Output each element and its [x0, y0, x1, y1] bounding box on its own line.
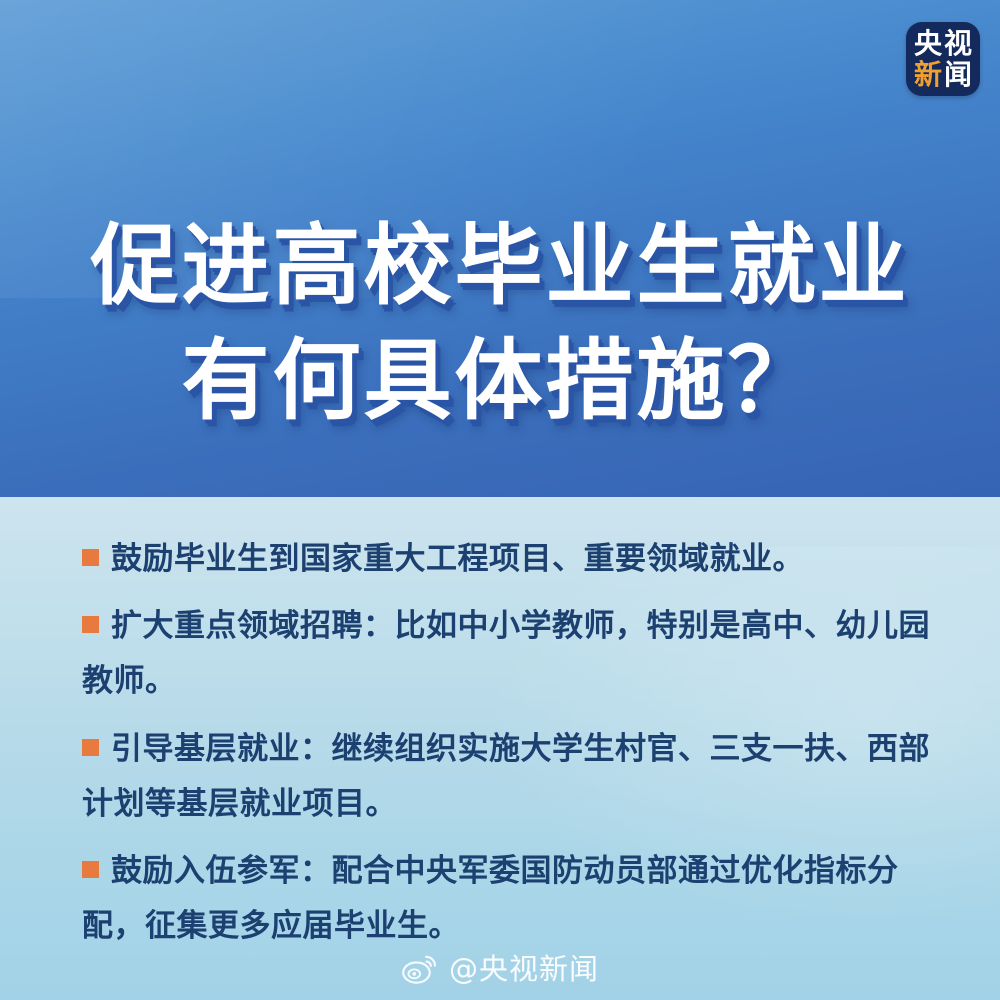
square-bullet-icon: [82, 616, 99, 633]
bullet-item-2-text: 扩大重点领域招聘：比如中小学教师，特别是高中、幼儿园教师。: [82, 608, 930, 699]
bullet-item-3: 引导基层就业：继续组织实施大学生村官、三支一扶、西部计划等基层就业项目。: [82, 731, 930, 822]
list-item: 鼓励毕业生到国家重大工程项目、重要领域就业。: [82, 532, 942, 587]
infographic-poster: 央 视 新 闻 促进高校毕业生就业 有何具体措施？ 鼓励毕业生到国家重大工程项目…: [0, 0, 1000, 1000]
logo-char-shi: 视: [943, 30, 973, 58]
list-item: 引导基层就业：继续组织实施大学生村官、三支一扶、西部计划等基层就业项目。: [82, 722, 942, 832]
logo-char-wen: 闻: [943, 61, 973, 89]
hero-banner: 央 视 新 闻 促进高校毕业生就业 有何具体措施？: [0, 0, 1000, 497]
square-bullet-icon: [82, 549, 99, 566]
bullet-item-4-text: 鼓励入伍参军：配合中央军委国防动员部通过优化指标分配，征集更多应届毕业生。: [82, 853, 899, 944]
square-bullet-icon: [82, 739, 99, 756]
list-item: 鼓励入伍参军：配合中央军委国防动员部通过优化指标分配，征集更多应届毕业生。: [82, 844, 942, 954]
weibo-handle: @央视新闻: [449, 955, 599, 984]
bullet-item-2: 扩大重点领域招聘：比如中小学教师，特别是高中、幼儿园教师。: [82, 608, 930, 699]
measures-panel: 鼓励毕业生到国家重大工程项目、重要领域就业。 扩大重点领域招聘：比如中小学教师，…: [0, 497, 1000, 1000]
logo-line-bottom: 新 闻: [913, 61, 973, 89]
bullet-item-1-text: 鼓励毕业生到国家重大工程项目、重要领域就业。: [111, 541, 804, 577]
logo-line-top: 央 视: [913, 30, 973, 58]
logo-char-xin: 新: [913, 61, 943, 89]
measures-list: 鼓励毕业生到国家重大工程项目、重要领域就业。 扩大重点领域招聘：比如中小学教师，…: [82, 532, 942, 966]
cctv-news-logo: 央 视 新 闻: [906, 22, 980, 96]
list-item: 扩大重点领域招聘：比如中小学教师，特别是高中、幼儿园教师。: [82, 599, 942, 709]
title-line-2: 有何具体措施？: [0, 327, 1000, 434]
footer-attribution: @央视新闻: [0, 954, 1000, 984]
page-title: 促进高校毕业生就业 有何具体措施？: [0, 212, 1000, 435]
bullet-item-1: 鼓励毕业生到国家重大工程项目、重要领域就业。: [82, 541, 804, 577]
logo-char-yang: 央: [913, 30, 943, 58]
square-bullet-icon: [82, 861, 99, 878]
title-line-1: 促进高校毕业生就业: [0, 212, 1000, 319]
bullet-item-3-text: 引导基层就业：继续组织实施大学生村官、三支一扶、西部计划等基层就业项目。: [82, 731, 930, 822]
weibo-icon: [401, 954, 439, 984]
bullet-item-4: 鼓励入伍参军：配合中央军委国防动员部通过优化指标分配，征集更多应届毕业生。: [82, 853, 899, 944]
